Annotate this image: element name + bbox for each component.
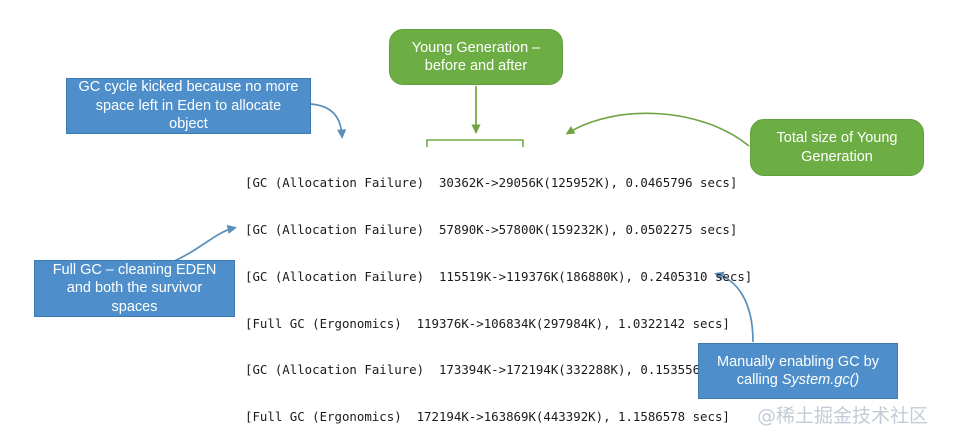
log-line: [GC (Allocation Failure) 57890K->57800K(… <box>245 222 752 238</box>
callout-total-size-label: Total size of Young Generation <box>759 129 915 166</box>
callout-total-size: Total size of Young Generation <box>750 119 924 176</box>
connector-total-size <box>568 113 749 146</box>
callout-manual-gc-line2-prefix: calling <box>737 372 782 388</box>
connector-full-gc <box>172 228 234 262</box>
log-line: [GC (Allocation Failure) 173394K->172194… <box>245 362 752 378</box>
watermark: @稀土掘金技术社区 <box>757 401 928 428</box>
annotated-gc-log-diagram: [GC (Allocation Failure) 30362K->29056K(… <box>0 0 958 439</box>
connector-gc-cycle <box>311 104 342 136</box>
log-line: [GC (Allocation Failure) 30362K->29056K(… <box>245 175 752 191</box>
log-line: [Full GC (Ergonomics) 172194K->163869K(4… <box>245 409 752 425</box>
gc-log-output: [GC (Allocation Failure) 30362K->29056K(… <box>245 144 752 439</box>
callout-gc-cycle-label: GC cycle kicked because no more space le… <box>75 78 302 134</box>
callout-young-generation: Young Generation – before and after <box>389 29 563 85</box>
callout-manual-gc-label: Manually enabling GC bycalling System.gc… <box>717 353 879 390</box>
log-line: [Full GC (Ergonomics) 119376K->106834K(2… <box>245 316 752 332</box>
log-line: [GC (Allocation Failure) 115519K->119376… <box>245 269 752 285</box>
callout-manual-gc-code: System.gc() <box>782 372 859 388</box>
callout-manual-gc: Manually enabling GC bycalling System.gc… <box>698 343 898 399</box>
callout-full-gc-label: Full GC – cleaning EDEN and both the sur… <box>43 261 226 317</box>
callout-gc-cycle: GC cycle kicked because no more space le… <box>66 78 311 134</box>
callout-full-gc: Full GC – cleaning EDEN and both the sur… <box>34 260 235 317</box>
callout-manual-gc-line1: Manually enabling GC by <box>717 354 879 370</box>
callout-young-generation-label: Young Generation – before and after <box>398 39 554 76</box>
